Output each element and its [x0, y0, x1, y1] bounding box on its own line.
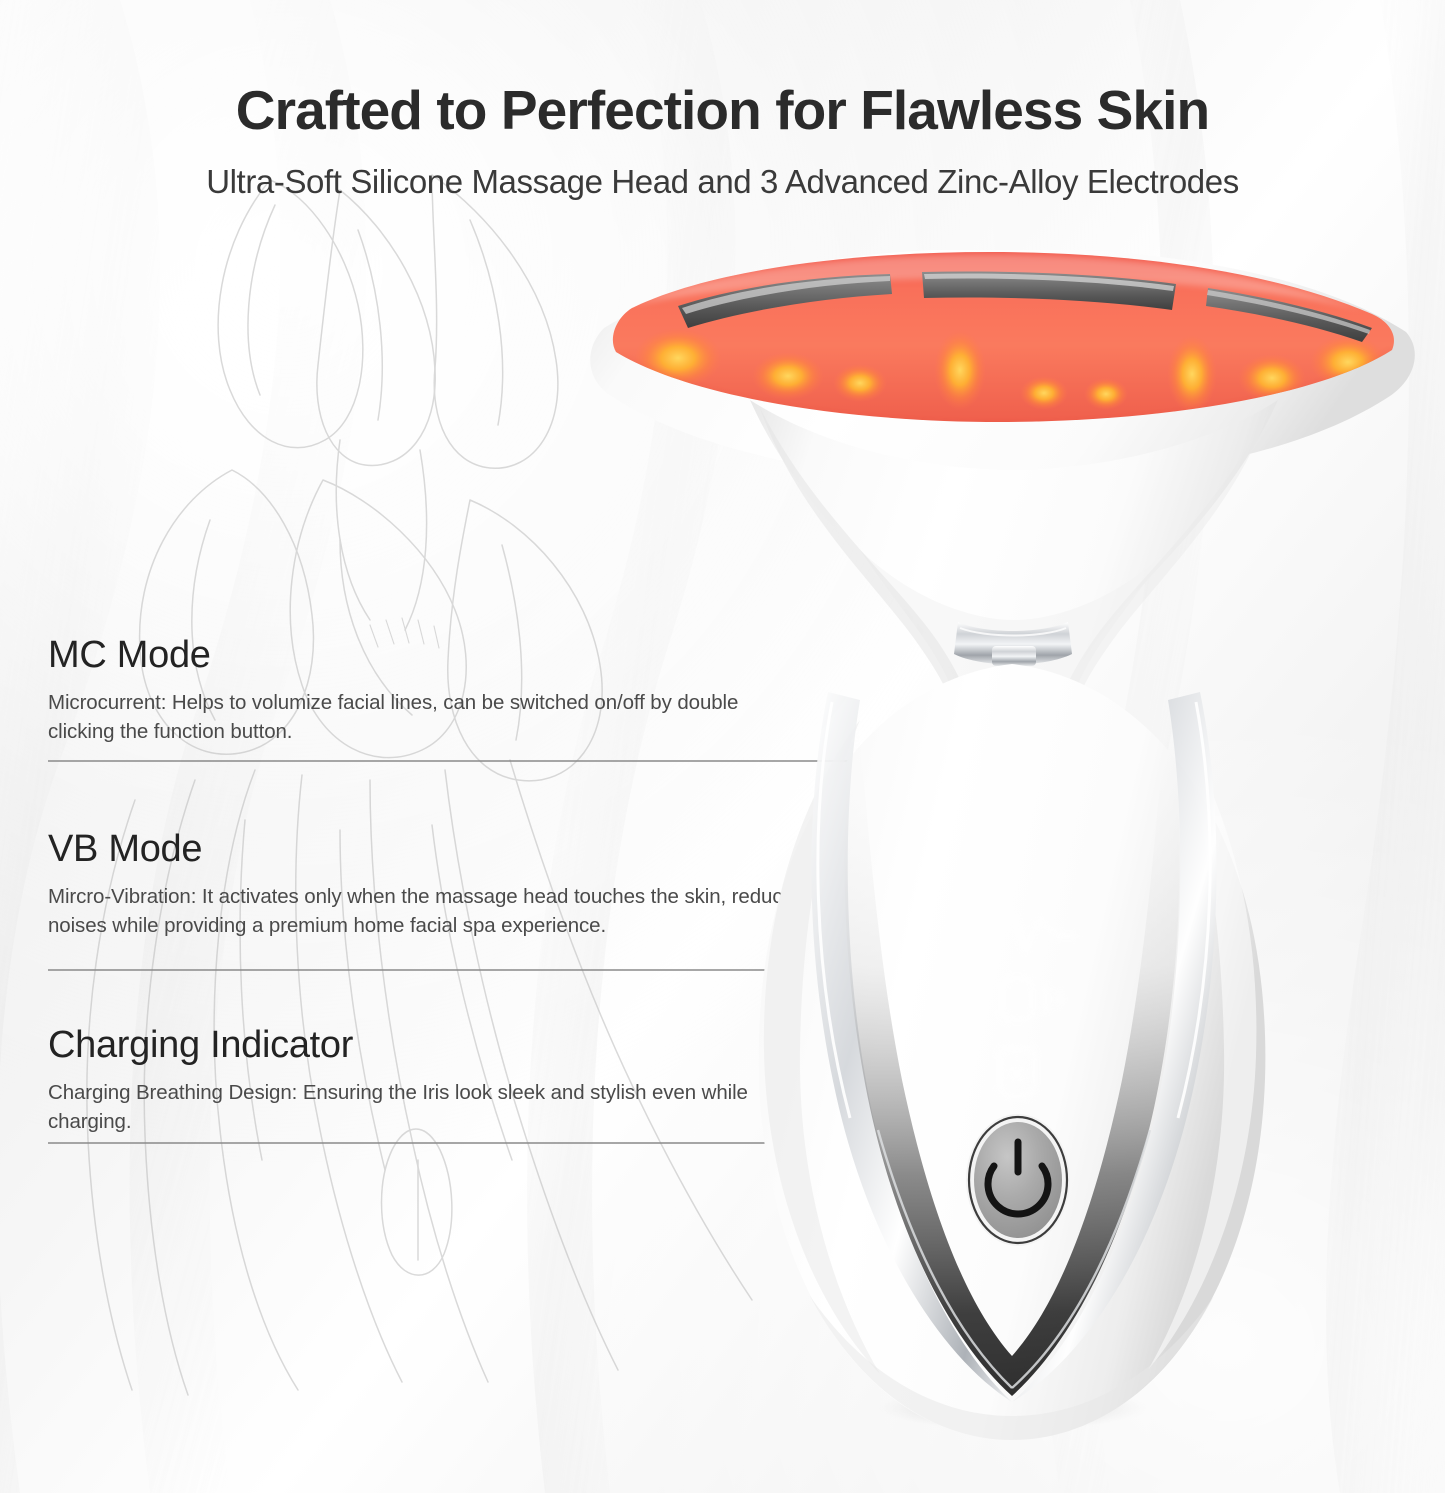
product-infographic: Crafted to Perfection for Flawless Skin … [0, 0, 1445, 1493]
battery-indicator-hit [980, 1038, 1090, 1102]
header: Crafted to Perfection for Flawless Skin … [0, 0, 1445, 200]
microcurrent-indicator-hit [980, 900, 1090, 960]
device-hit-layer [560, 250, 1440, 1450]
page-subtitle: Ultra-Soft Silicone Massage Head and 3 A… [0, 140, 1445, 200]
page-title: Crafted to Perfection for Flawless Skin [0, 0, 1445, 140]
vibration-indicator-hit [980, 966, 1090, 1026]
power-button-hit[interactable] [966, 1140, 1070, 1272]
